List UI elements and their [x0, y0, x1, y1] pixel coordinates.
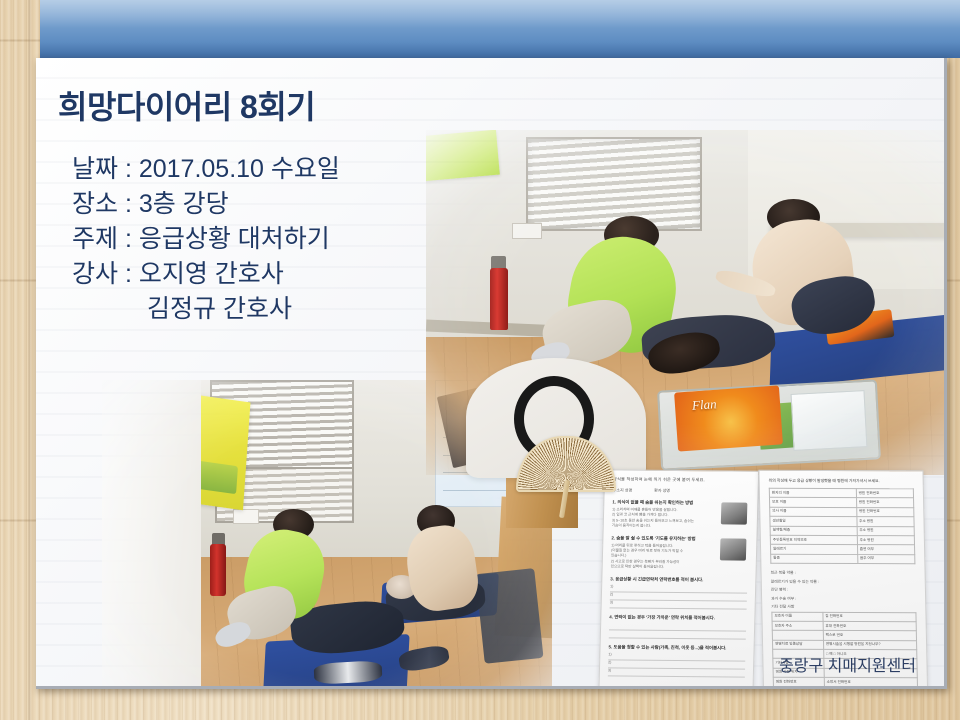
worksheet-line: 3)	[610, 600, 747, 609]
table-row: 환자의 이름 병원 전화번호	[769, 488, 913, 498]
white-package	[791, 390, 868, 451]
table-cell: 주민등록번호 지역보호	[770, 535, 857, 545]
table-cell	[772, 630, 823, 640]
chair	[475, 569, 543, 665]
emergency-worksheet-document: 양식을 작성하여 눈에 띄기 쉬운 곳에 붙여 두세요. 주소지 성명 환자 성…	[598, 469, 759, 689]
organization-footer: 중랑구 치매지원센터	[779, 652, 916, 676]
table-cell: 집 전화번호	[823, 612, 916, 622]
table-row: 보호 이름 병원 전화번호	[769, 498, 913, 508]
detail-line-topic: 주제 : 응급상황 대처하기	[72, 222, 340, 257]
detail-line-instructor-second: 김정규 간호사	[72, 292, 340, 327]
table-cell: 보호자 주소	[772, 621, 823, 631]
form-table-primary: 환자의 이름 병원 전화번호 보호 이름 병원 전화번호 의사 이름 병원 전화…	[769, 488, 916, 564]
wall-sign	[233, 509, 260, 524]
worksheet-section: 4. 연락이 없는 경우 '가장 가까운' 연락 위치를 적어봅시다.	[609, 614, 747, 639]
worksheet-line: 3)	[608, 668, 745, 677]
form-table-secondary: 보호자 이름 집 전화번호 보호자 주소 휴대 전화번호 팩스로 번호 연명치료…	[771, 611, 918, 687]
worksheet-section: 1. 의식이 없을 때 숨을 쉬는지 확인하는 방법 1) 소리치며 어깨를 흔…	[612, 499, 750, 530]
fire-extinguisher-icon	[210, 544, 226, 596]
table-cell: 보호자 이름	[772, 612, 823, 622]
form-free-field: 알레르기가 있을 수 있는 약물 :	[771, 577, 916, 586]
table-row: 혈액형/체중 주소 병원	[770, 526, 914, 536]
left-wall-panel	[102, 380, 201, 689]
form-free-field: 기타 전달 사항	[771, 603, 916, 612]
table-cell: 휴대 전화번호	[823, 621, 916, 631]
worksheet-illustration	[721, 502, 748, 524]
table-cell: 주소 병원	[857, 517, 915, 527]
table-cell: 소방서 전화번호	[824, 678, 917, 688]
table-cell: 흡연 여부	[857, 545, 915, 555]
table-cell: 음주 여부	[857, 554, 915, 564]
table-cell: 병원 전화번호	[856, 498, 914, 508]
table-cell: 의사 이름	[770, 507, 857, 517]
table-row: 생년월일 주소 병원	[770, 516, 914, 526]
worksheet-field: 환자 성명	[654, 488, 670, 494]
table-cell: 환자의 이름	[769, 488, 856, 498]
table-cell: 병원 전화번호	[856, 507, 914, 517]
presentation-slide: Flan	[36, 58, 947, 689]
traditional-fan-icon	[516, 436, 612, 498]
worksheet-heading: 4. 연락이 없는 경우 '가장 가까운' 연락 위치를 적어봅시다.	[609, 614, 746, 621]
worksheet-section: 2. 숨을 잘 쉴 수 있도록 '기도를 유지하는' 방법 1) 머리를 뒤로 …	[611, 535, 749, 571]
table-row: 알레르기 흡연 여부	[770, 545, 914, 555]
worksheet-section: 5. 도움을 청할 수 있는 사람(가족, 친척, 이웃 등...)을 적어봅시…	[608, 644, 746, 677]
table-cell: 통증	[771, 554, 858, 564]
table-cell: 연명시술을 시행할 병원을 지정나무?	[823, 640, 916, 650]
page-title: 희망다이어리 8회기	[58, 82, 315, 128]
worksheet-heading: 5. 도움을 청할 수 있는 사람(가족, 친척, 이웃 등...)을 적어봅시…	[608, 644, 745, 651]
worksheet-title: 양식을 작성하여 눈에 띄기 쉬운 곳에 붙여 두세요.	[613, 476, 750, 483]
table-cell: 연명치료 임종상담	[772, 640, 823, 650]
table-row: 팩스로 번호	[772, 630, 916, 640]
header-band	[40, 0, 960, 58]
window-blinds-icon	[526, 137, 702, 231]
fire-extinguisher-icon	[490, 268, 508, 330]
form-free-field: 최근 복용 약물 :	[770, 569, 915, 578]
table-cell: 생년월일	[770, 516, 857, 526]
table-cell: 혈액형/체중	[770, 526, 857, 536]
worksheet-fields: 주소지 성명 환자 성명	[613, 487, 750, 494]
detail-line-date: 날짜 : 2017.05.10 수요일	[72, 152, 340, 187]
table-row: 의사 이름 병원 전화번호	[770, 507, 914, 517]
table-row: 통증 음주 여부	[771, 554, 915, 564]
table-row: 보호자 이름 집 전화번호	[772, 612, 916, 622]
detail-line-instructor: 강사 : 오지영 간호사	[72, 257, 340, 292]
worksheet-section: 3. 응급상황 시 긴급연락처 연락번호를 적어 봅시다. 1) 2) 3)	[610, 576, 748, 609]
table-cell: 알레르기	[770, 545, 857, 555]
worksheet-blank-rule	[609, 630, 746, 639]
detail-line-place: 장소 : 3층 강당	[72, 187, 340, 222]
package-brand-label: Flan	[692, 397, 718, 415]
header-band-sheen	[40, 0, 960, 58]
session-details: 날짜 : 2017.05.10 수요일 장소 : 3층 강당 주제 : 응급상황…	[72, 152, 340, 327]
table-cell: 주소 병원	[857, 526, 915, 536]
worksheet-illustration	[720, 538, 747, 560]
desk-background: Flan	[0, 0, 960, 720]
table-cell: 병원 전화번호	[856, 489, 914, 499]
orange-snack-package	[674, 385, 783, 451]
table-cell: 팩스로 번호	[823, 631, 916, 641]
green-wall-poster	[426, 130, 500, 181]
table-row: 병원 전화번호 소방서 전화번호	[773, 677, 917, 687]
worksheet-heading: 3. 응급상황 시 긴급연락처 연락번호를 적어 봅시다.	[610, 576, 747, 583]
table-cell: 보호 이름	[769, 498, 856, 508]
worksheet-line: 있으므로 턱만 살짝이 들어올립니다.	[611, 565, 748, 572]
table-row: 연명치료 임종상담 연명시술을 시행할 병원을 지정나무?	[772, 640, 916, 650]
form-title: 위의 작성해 두고 응급 상황이 발생했을 때 병원에 가져가셔서 쓰세요.	[769, 478, 914, 485]
worksheet-line: 기슴이 움직이는지 봅니다.	[612, 524, 749, 531]
wall-sign	[512, 223, 542, 239]
table-cell: 병원 전화번호	[773, 677, 824, 687]
table-row: 보호자 주소 휴대 전화번호	[772, 621, 916, 631]
table-row: 주민등록번호 지역보호 주소 병원	[770, 535, 914, 545]
table-cell: 주소 병원	[857, 535, 915, 545]
